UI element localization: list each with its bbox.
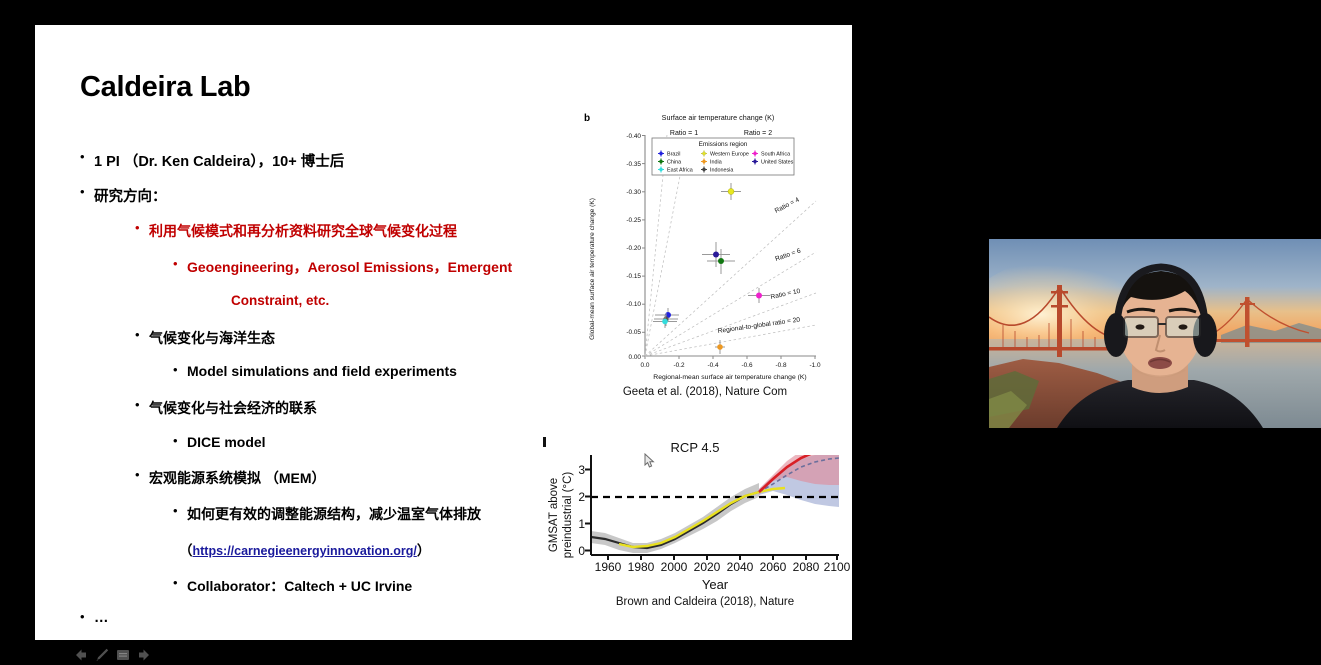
svg-text:3: 3 [578,463,585,477]
list-item: • … [80,610,109,626]
list-item: • DICE model [173,434,266,450]
list-item-label: Model simulations and field experiments [187,363,457,379]
list-item-label: 研究方向： [94,185,167,206]
x-tick-labels: 0.0 -0.2 -0.4 -0.6 -0.8 -1.0 [641,356,821,369]
svg-text:-0.40: -0.40 [626,133,641,140]
ratio-10-label: Ratio = 10 [770,288,801,301]
bullet-dot-icon: • [80,610,94,623]
bullet-dot-icon: • [135,328,149,341]
line-chart-title: RCP 4.5 [671,440,720,455]
svg-text:1960: 1960 [595,560,622,574]
svg-text:Indonesia: Indonesia [710,168,733,174]
ratio-1-label: Ratio = 1 [670,130,698,137]
mouse-cursor-icon [643,453,657,469]
list-item: • Geoengineering，Aerosol Emissions，Emerg… [173,257,512,277]
panel-label-b: b [584,113,590,124]
svg-text:-0.20: -0.20 [626,245,641,252]
list-item: • 利用气候模式和再分析资料研究全球气候变化过程 [135,221,457,241]
svg-text:-0.30: -0.30 [626,189,641,196]
screen: Caldeira Lab • 1 PI （Dr. Ken Caldeira），1… [0,0,1321,665]
data-point-south-africa [748,288,770,303]
list-item: • 宏观能源系统模拟 （MEM） [135,468,326,488]
arrow-left-icon[interactable] [73,647,89,663]
bullet-dot-icon: • [173,434,187,447]
svg-text:1: 1 [578,517,585,531]
scatter-ylabel: Global-mean surface air temperature chan… [589,198,596,340]
presentation-slide: Caldeira Lab • 1 PI （Dr. Ken Caldeira），1… [35,25,852,640]
svg-text:-0.2: -0.2 [673,362,684,369]
svg-text:Western Europe: Western Europe [710,152,749,158]
ratio-20-label: Regional-to-global ratio = 20 [717,316,801,335]
line-chart-caption: Brown and Caldeira (2018), Nature [555,596,855,608]
paren-open: （ [179,543,193,558]
webcam-video-frame [989,239,1321,428]
data-point-china [707,249,735,274]
legend-item-china: China [658,159,681,166]
svg-text:-0.05: -0.05 [626,329,641,336]
page-title: Caldeira Lab [80,71,250,104]
svg-text:South Africa: South Africa [761,152,790,158]
svg-text:2100: 2100 [824,560,851,574]
svg-text:2040: 2040 [727,560,754,574]
svg-text:0.00: 0.00 [629,354,642,361]
svg-text:China: China [667,160,681,166]
pen-icon[interactable] [94,647,110,663]
ratio-2-label: Ratio = 2 [744,130,772,137]
svg-text:United States: United States [761,160,794,166]
list-item: • 如何更有效的调整能源结构，减少温室气体排放 [173,504,481,524]
list-item-label: 如何更有效的调整能源结构，减少温室气体排放 [187,504,481,524]
carnegie-energy-innovation-link[interactable]: https://carnegieenergyinnovation.org/ [193,544,417,558]
list-item: • 研究方向： [80,185,167,206]
svg-text:East Africa: East Africa [667,168,693,174]
list-item: • Model simulations and field experiment… [173,363,457,379]
slide-navigation-toolbar[interactable] [73,647,152,663]
list-item-label: 气候变化与社会经济的联系 [149,398,317,418]
list-item-label: 气候变化与海洋生态 [149,328,275,348]
bullet-dot-icon: • [173,257,187,270]
bullet-dot-icon: • [135,398,149,411]
svg-text:2080: 2080 [793,560,820,574]
scatter-chart-title: Surface air temperature change (K) [662,113,775,122]
svg-text:-0.10: -0.10 [626,301,641,308]
list-item-label: 1 PI （Dr. Ken Caldeira），10+ 博士后 [94,150,344,171]
svg-text:0.0: 0.0 [641,362,650,369]
arrow-right-icon[interactable] [136,647,152,663]
ratio-4-label: Ratio = 4 [774,196,801,214]
list-item: • Collaborator：Caltech + UC Irvine [173,576,412,596]
ratio-6-label: Ratio = 6 [774,248,802,263]
svg-text:-0.25: -0.25 [626,217,641,224]
line-ylabel-line1: GMSAT above [548,478,560,552]
bullet-dot-icon: • [173,363,187,376]
svg-text:1980: 1980 [628,560,655,574]
svg-text:2020: 2020 [694,560,721,574]
list-item: • 气候变化与社会经济的联系 [135,398,317,418]
y-tick-labels: -0.40 -0.35 -0.30 -0.25 -0.20 -0.15 -0.1… [626,133,645,361]
x-tick-labels: 1960 1980 2000 2020 2040 2060 2080 2100 [595,555,851,574]
line-ylabel-line2: preindustrial (°C) [562,472,574,559]
list-item-label: DICE model [187,434,266,450]
legend-item-brazil: Brazil [658,151,680,158]
svg-text:India: India [710,160,722,166]
data-point-united-states [702,242,730,267]
bullet-dot-icon: • [135,221,149,234]
list-item-label: … [94,610,109,626]
svg-text:-0.8: -0.8 [775,362,786,369]
scatter-chart-svg: b Surface air temperature change (K) Rat… [580,109,825,409]
line-chart-rcp45: RCP 4.5 GMSAT above preindustrial (°C) [535,433,855,593]
svg-text:-0.35: -0.35 [626,161,641,168]
bullet-dot-icon: • [173,576,187,589]
legend-item-india: India [701,159,722,166]
link-line: （https://carnegieenergyinnovation.org/） [179,539,430,559]
bullet-dot-icon: • [173,504,187,517]
svg-text:-1.0: -1.0 [809,362,820,369]
list-item: • 1 PI （Dr. Ken Caldeira），10+ 博士后 [80,150,344,171]
paren-close: ） [417,543,431,558]
bullet-dot-icon: • [80,185,94,198]
y-tick-labels: 0 1 2 3 [578,463,591,558]
list-item-label: Geoengineering，Aerosol Emissions，Emergen… [187,257,512,277]
data-point-india [715,340,725,354]
line-xlabel: Year [702,577,729,592]
bullet-dot-icon: • [80,150,94,163]
legend-title: Emissions region [699,141,748,148]
svg-text:2060: 2060 [760,560,787,574]
bullet-dot-icon: • [135,468,149,481]
data-point-east-africa [653,315,677,328]
participant-video-tile[interactable] [989,239,1321,428]
svg-text:-0.15: -0.15 [626,273,641,280]
data-point-western-europe [721,183,741,200]
ratio-ray-labels: Ratio = 4 Ratio = 6 Ratio = 10 Regional-… [717,196,802,335]
list-item-continuation: Constraint, etc. [231,293,329,308]
list-item-label: 宏观能源系统模拟 （MEM） [149,468,326,488]
svg-text:2000: 2000 [661,560,688,574]
svg-text:0: 0 [578,544,585,558]
eye-left [1136,324,1145,329]
eye-right [1179,324,1188,329]
line-chart-svg: RCP 4.5 GMSAT above preindustrial (°C) [535,433,855,593]
svg-text:Brazil: Brazil [667,152,680,158]
panel-marker [543,437,546,447]
svg-text:2: 2 [578,490,585,504]
svg-text:-0.6: -0.6 [741,362,752,369]
list-item: • 气候变化与海洋生态 [135,328,275,348]
scatter-xlabel: Regional-mean surface air temperature ch… [653,374,806,381]
list-item-label: 利用气候模式和再分析资料研究全球气候变化过程 [149,221,457,241]
scatter-chart-caption: Geeta et al. (2018), Nature Com [580,386,830,398]
scatter-chart-temperature-ratio: b Surface air temperature change (K) Rat… [580,109,825,409]
list-item-label: Collaborator：Caltech + UC Irvine [187,576,412,596]
slide-menu-icon[interactable] [115,647,131,663]
svg-text:-0.4: -0.4 [707,362,718,369]
